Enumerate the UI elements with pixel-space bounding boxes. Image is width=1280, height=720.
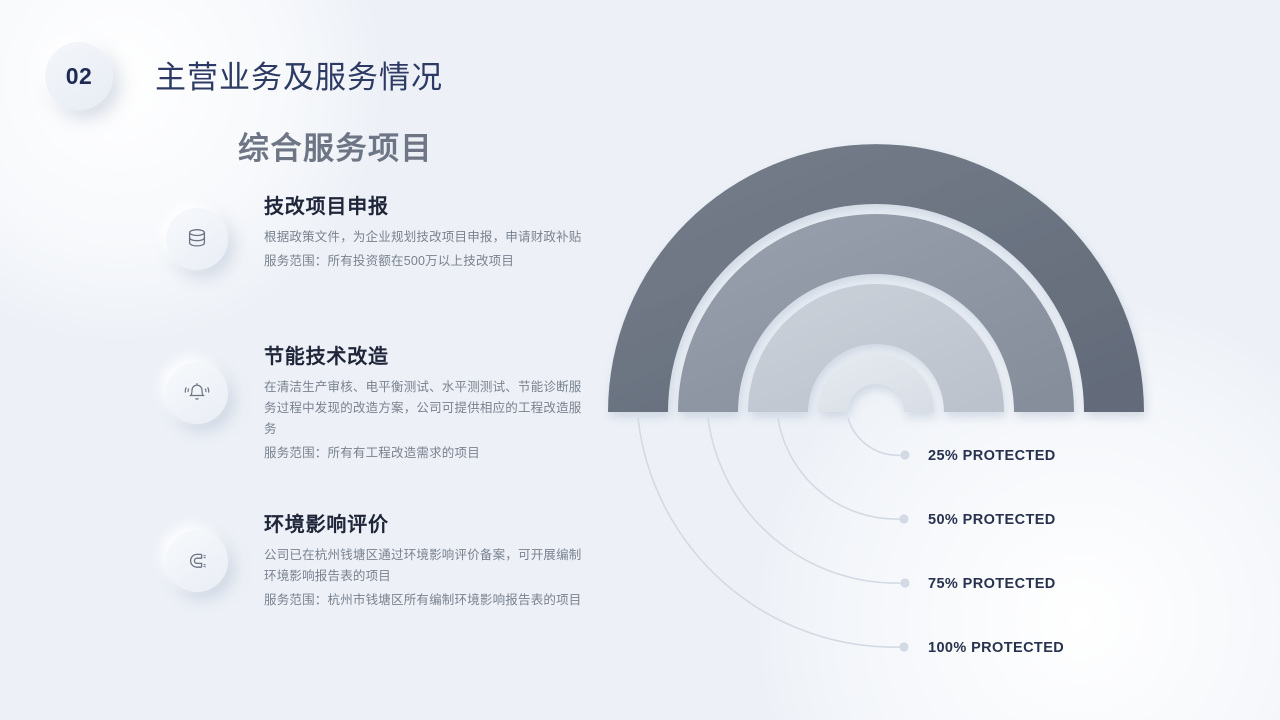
service-text-block: 环境影响评价 公司已在杭州钱塘区通过环境影响评价备案，可开展编制环境影响报告表的… <box>264 508 584 611</box>
service-description: 公司已在杭州钱塘区通过环境影响评价备案，可开展编制环境影响报告表的项目 <box>264 545 584 587</box>
service-scope: 服务范围：所有投资额在500万以上技改项目 <box>264 251 584 272</box>
list-item[interactable]: 环境影响评价 公司已在杭州钱塘区通过环境影响评价备案，可开展编制环境影响报告表的… <box>0 508 600 678</box>
section-number-badge: 02 <box>45 42 113 110</box>
bell-ring-icon <box>166 362 228 424</box>
leader-dot-group <box>899 450 909 651</box>
leader-dot-50 <box>899 514 908 523</box>
page-title: 主营业务及服务情况 <box>155 52 443 97</box>
block-title: 综合服务项目 <box>238 123 433 168</box>
service-title: 环境影响评价 <box>264 508 584 537</box>
section-number-label: 02 <box>66 63 93 90</box>
leader-dot-25 <box>900 450 909 459</box>
service-scope: 服务范围：所有有工程改造需求的项目 <box>264 443 584 464</box>
service-description: 在清洁生产审核、电平衡测试、水平测测试、节能诊断服务过程中发现的改造方案，公司可… <box>264 377 584 440</box>
leader-line-75 <box>708 418 902 583</box>
database-icon <box>166 208 228 270</box>
concentric-rings-chart: 25% PROTECTED 50% PROTECTED 75% PROTECTE… <box>560 110 1260 690</box>
leader-dot-75 <box>900 578 909 587</box>
service-text-block: 节能技术改造 在清洁生产审核、电平衡测试、水平测测试、节能诊断服务过程中发现的改… <box>264 340 584 464</box>
legend-label-100[interactable]: 100% PROTECTED <box>928 640 1064 656</box>
ring-segment-25[interactable] <box>818 354 934 412</box>
ring-group <box>608 144 1144 412</box>
leader-line-50 <box>778 418 901 519</box>
legend-group: 25% PROTECTED 50% PROTECTED 75% PROTECTE… <box>928 448 1064 656</box>
list-item[interactable]: 技改项目申报 根据政策文件，为企业规划技改项目申报，申请财政补贴 服务范围：所有… <box>0 190 600 340</box>
service-scope: 服务范围：杭州市钱塘区所有编制环境影响报告表的项目 <box>264 590 584 611</box>
magnet-icon <box>166 530 228 592</box>
service-list: 技改项目申报 根据政策文件，为企业规划技改项目申报，申请财政补贴 服务范围：所有… <box>0 190 600 678</box>
list-item[interactable]: 节能技术改造 在清洁生产审核、电平衡测试、水平测测试、节能诊断服务过程中发现的改… <box>0 340 600 508</box>
leader-line-25 <box>848 418 903 455</box>
service-text-block: 技改项目申报 根据政策文件，为企业规划技改项目申报，申请财政补贴 服务范围：所有… <box>264 190 584 272</box>
service-title: 技改项目申报 <box>264 190 584 219</box>
legend-label-50[interactable]: 50% PROTECTED <box>928 512 1056 528</box>
legend-label-75[interactable]: 75% PROTECTED <box>928 576 1056 592</box>
legend-label-25[interactable]: 25% PROTECTED <box>928 448 1056 464</box>
leader-line-group <box>638 418 903 647</box>
service-title: 节能技术改造 <box>264 340 584 369</box>
leader-line-100 <box>638 418 901 647</box>
leader-dot-100 <box>899 642 908 651</box>
service-description: 根据政策文件，为企业规划技改项目申报，申请财政补贴 <box>264 227 584 248</box>
